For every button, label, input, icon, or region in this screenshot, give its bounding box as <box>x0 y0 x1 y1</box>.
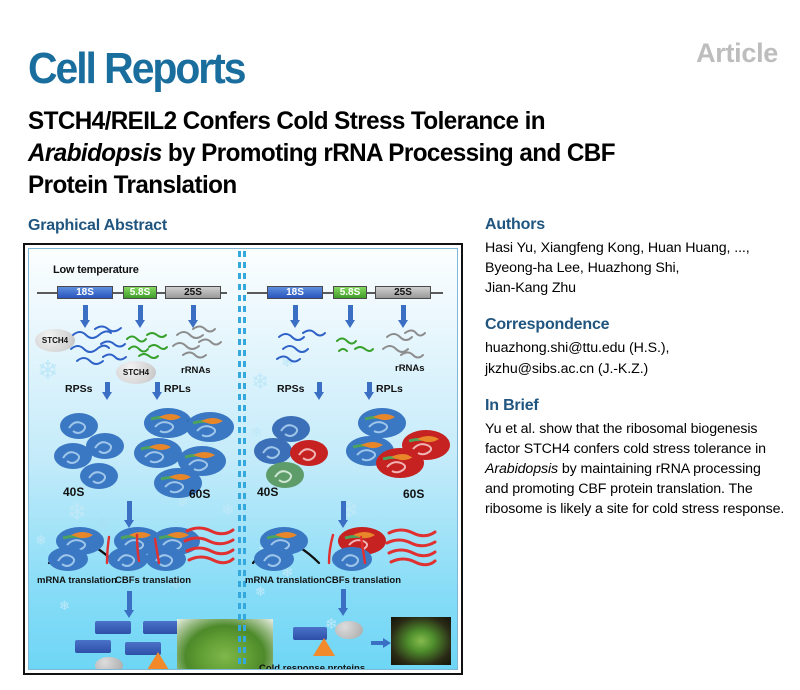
in-brief-organism: Arabidopsis <box>485 461 558 477</box>
metadata-column: Authors Hasi Yu, Xiangfeng Kong, Huan Hu… <box>485 216 785 535</box>
title-line-2: by Promoting rRNA Processing and CBF <box>162 139 615 167</box>
rps-arrow <box>317 382 322 393</box>
cold-response-proteins-label: Cold response proteins <box>259 663 365 670</box>
cbf-translation-label: CBFs translation <box>325 575 401 586</box>
cold-response-protein-shape <box>335 621 363 639</box>
gene-label-25s: 25S <box>394 287 412 298</box>
subunit-40s-label: 40S <box>257 485 278 499</box>
correspondence-email-2[interactable]: jkzhu@sibs.ac.cn (J.-K.Z.) <box>485 361 648 377</box>
authors-list: Hasi Yu, Xiangfeng Kong, Huan Huang, ...… <box>485 238 785 298</box>
panel-stch4-absent: 18S 5.8S 25S <box>245 249 457 669</box>
article-type-label: Article <box>696 38 778 69</box>
gene-label-18s: 18S <box>76 287 94 298</box>
downstream-arrow <box>127 591 132 611</box>
ribosome-40s-subunit <box>79 462 119 490</box>
rps-label: RPSs <box>65 383 92 395</box>
rps-arrow <box>105 382 110 393</box>
ribosome-60s-subunit-defective <box>401 429 451 461</box>
rrnas-label: rRNAs <box>181 365 211 376</box>
ribosome-40s-subunit <box>47 546 89 572</box>
gene-label-58s: 5.8S <box>130 287 151 298</box>
cold-response-protein-shape <box>95 621 131 634</box>
rrnas-label: rRNAs <box>395 363 425 374</box>
ribosome-40s-subunit <box>253 546 295 572</box>
authors-heading: Authors <box>485 216 785 234</box>
gene-label-25s: 25S <box>184 287 202 298</box>
cold-response-protein-shape <box>75 640 111 653</box>
authors-line-2: Byeong-ha Lee, Huazhong Shi, <box>485 260 679 276</box>
title-organism: Arabidopsis <box>28 139 162 167</box>
gene-box-18s: 18S <box>57 286 113 299</box>
ribosome-60s-subunit <box>133 437 183 469</box>
graphical-abstract-heading: Graphical Abstract <box>28 217 167 235</box>
cbf-translation-label: CBFs translation <box>115 575 191 586</box>
panel-stch4-present: Low temperature 18S 5.8S 25S STCH4 STCH4 <box>29 249 240 669</box>
transcription-arrow <box>191 305 196 321</box>
in-brief-block: In Brief Yu et al. show that the ribosom… <box>485 397 785 520</box>
low-temperature-label: Low temperature <box>53 264 139 276</box>
authors-block: Authors Hasi Yu, Xiangfeng Kong, Huan Hu… <box>485 216 785 298</box>
assembly-arrow <box>341 501 346 521</box>
cbf-mrna-strands <box>327 529 371 571</box>
page-title: STCH4/REIL2 Confers Cold Stress Toleranc… <box>28 105 751 201</box>
plant-photo-sensitive <box>391 617 451 665</box>
rrna-squiggles-18s <box>275 329 331 365</box>
subunit-40s-label: 40S <box>63 485 84 499</box>
subunit-60s-label: 60S <box>403 487 424 501</box>
gene-label-58s: 5.8S <box>340 287 361 298</box>
rpl-label: RPLs <box>164 383 191 395</box>
transcription-arrow <box>293 305 298 321</box>
in-brief-text: Yu et al. show that the ribosomal biogen… <box>485 419 785 520</box>
gene-box-25s: 25S <box>165 286 221 299</box>
stch4-label: STCH4 <box>42 336 68 345</box>
cbf-protein-strands <box>185 525 237 565</box>
cbf-mrna-strands <box>103 529 163 571</box>
ribosome-60s-subunit <box>185 411 235 443</box>
title-line-1: STCH4/REIL2 Confers Cold Stress Toleranc… <box>28 107 545 135</box>
figure-canvas: ❄ ❄ ❄ ❄ ❄ ❄ ❄ ❄ ❄ ❄ ❄ ❄ ❄ ❄ ❄ ❄ ❄ ❄ ❄ ❄ … <box>28 248 458 670</box>
mrna-translation-label: mRNA translation <box>245 575 325 586</box>
authors-line-3: Jian-Kang Zhu <box>485 280 576 296</box>
cold-response-protein-shape <box>147 652 169 670</box>
cold-response-protein-shape <box>313 638 335 656</box>
phenotype-arrow <box>371 641 384 645</box>
transcription-arrow <box>348 305 353 321</box>
page-header: Article Cell Reports STCH4/REIL2 Confers… <box>0 0 800 200</box>
title-line-3: Protein Translation <box>28 171 237 199</box>
rrna-squiggles-25s <box>171 327 229 365</box>
in-brief-heading: In Brief <box>485 397 785 415</box>
correspondence-block: Correspondence huazhong.shi@ttu.edu (H.S… <box>485 316 785 378</box>
transcription-arrow <box>401 305 406 321</box>
cold-response-protein-shape <box>143 621 179 634</box>
rrna-squiggles-58s <box>335 335 377 357</box>
correspondence-email-1[interactable]: huazhong.shi@ttu.edu (H.S.), <box>485 340 669 356</box>
rrna-squiggles-58s <box>125 333 171 359</box>
rrna-squiggles-25s <box>381 329 435 361</box>
transcription-arrow <box>83 305 88 321</box>
mrna-translation-label: mRNA translation <box>37 575 117 586</box>
correspondence-heading: Correspondence <box>485 316 785 334</box>
subunit-60s-label: 60S <box>189 487 210 501</box>
in-brief-part-1: Yu et al. show that the ribosomal biogen… <box>485 421 766 457</box>
gene-label-18s: 18S <box>286 287 304 298</box>
downstream-arrow <box>341 589 346 609</box>
cbf-protein-strands <box>387 527 439 567</box>
gene-box-58s: 5.8S <box>123 286 157 299</box>
transcription-arrow <box>138 305 143 321</box>
graphical-abstract-figure: ❄ ❄ ❄ ❄ ❄ ❄ ❄ ❄ ❄ ❄ ❄ ❄ ❄ ❄ ❄ ❄ ❄ ❄ ❄ ❄ … <box>23 243 463 675</box>
assembly-arrow <box>127 501 132 521</box>
rrna-squiggles-18s <box>69 327 131 371</box>
authors-line-1: Hasi Yu, Xiangfeng Kong, Huan Huang, ...… <box>485 240 750 256</box>
gene-box-25s: 25S <box>375 286 431 299</box>
cold-response-protein-shape <box>95 657 123 670</box>
gene-box-18s: 18S <box>267 286 323 299</box>
gene-box-58s: 5.8S <box>333 286 367 299</box>
rps-label: RPSs <box>277 383 304 395</box>
rpl-arrow <box>367 382 372 393</box>
rpl-label: RPLs <box>376 383 403 395</box>
journal-logo: Cell Reports <box>28 44 244 94</box>
rpl-arrow <box>155 382 160 393</box>
correspondence-emails: huazhong.shi@ttu.edu (H.S.), jkzhu@sibs.… <box>485 338 785 378</box>
